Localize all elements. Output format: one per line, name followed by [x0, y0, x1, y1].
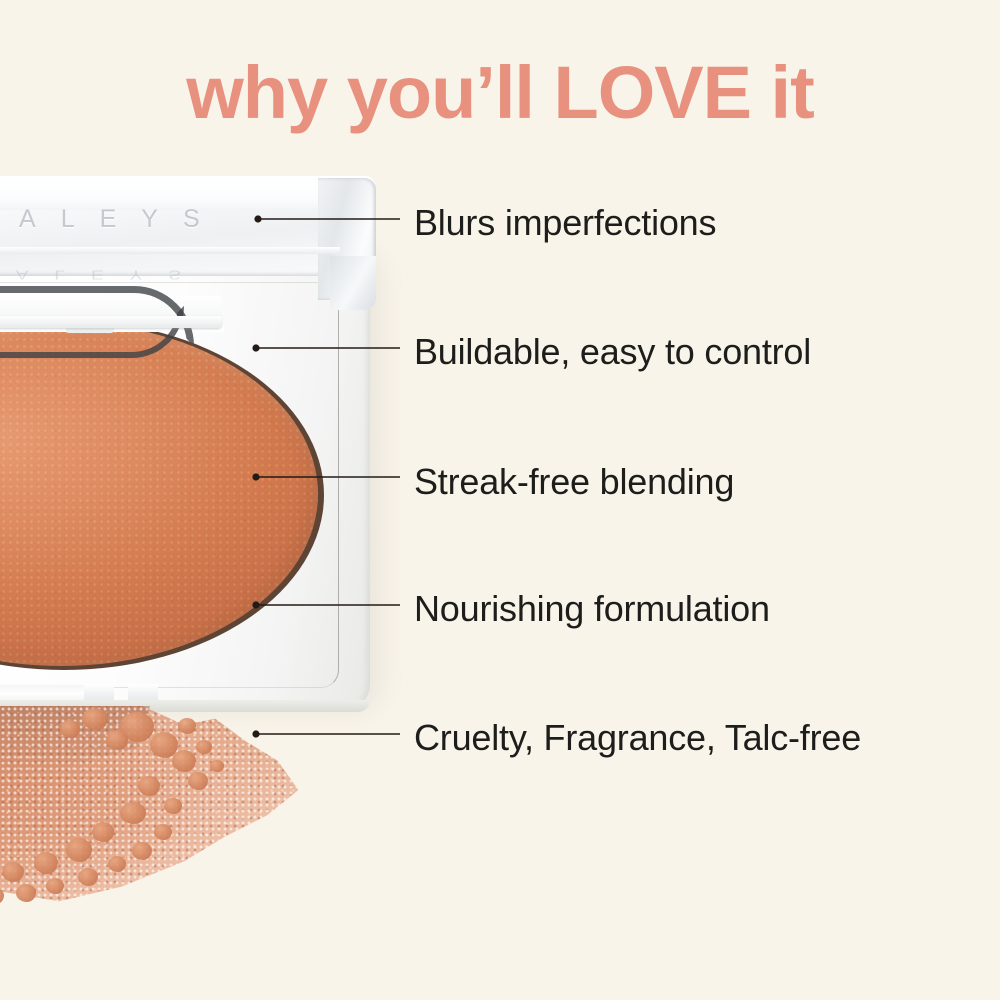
- powder-swatch-chunks: [0, 706, 340, 916]
- benefit-label-buildable: Buildable, easy to control: [414, 331, 811, 373]
- powder-crumb: [154, 824, 172, 840]
- powder-crumb: [164, 798, 182, 814]
- powder-crumb: [210, 760, 224, 772]
- powder-crumb: [16, 884, 36, 902]
- brand-emboss-text: HALEYS: [0, 205, 276, 234]
- powder-crumb: [46, 878, 64, 894]
- powder-crumb: [60, 720, 80, 738]
- powder-crumb: [92, 822, 114, 842]
- infographic-page: why you’ll LOVE it HALEYS HALEYS: [0, 0, 1000, 1000]
- powder-crumb: [138, 776, 160, 796]
- compact-hinge-lip: [0, 316, 222, 328]
- powder-crumb: [78, 868, 98, 886]
- powder-crumb: [178, 718, 196, 734]
- brand-emboss-reflection: HALEYS: [0, 266, 276, 281]
- powder-crumb: [108, 856, 126, 872]
- powder-crumb: [132, 842, 152, 860]
- powder-crumb: [106, 730, 128, 750]
- powder-crumb: [196, 740, 212, 754]
- clear-lid-highlight: [0, 247, 340, 254]
- powder-crumb: [66, 838, 92, 862]
- powder-crumb: [172, 750, 196, 772]
- benefit-label-freefrom: Cruelty, Fragrance, Talc-free: [414, 717, 861, 759]
- powder-crumb: [82, 708, 108, 730]
- powder-crumb: [2, 862, 24, 882]
- clear-lid-right-bevel-lower: [330, 256, 376, 310]
- powder-crumb: [0, 888, 4, 904]
- benefit-label-blurs: Blurs imperfections: [414, 202, 716, 244]
- powder-crumb: [34, 852, 58, 874]
- benefit-label-streakfree: Streak-free blending: [414, 461, 734, 503]
- powder-crumb: [188, 772, 208, 790]
- powder-crumb: [120, 802, 146, 824]
- product-image: HALEYS HALEYS: [0, 0, 420, 1000]
- benefit-label-nourishing: Nourishing formulation: [414, 588, 770, 630]
